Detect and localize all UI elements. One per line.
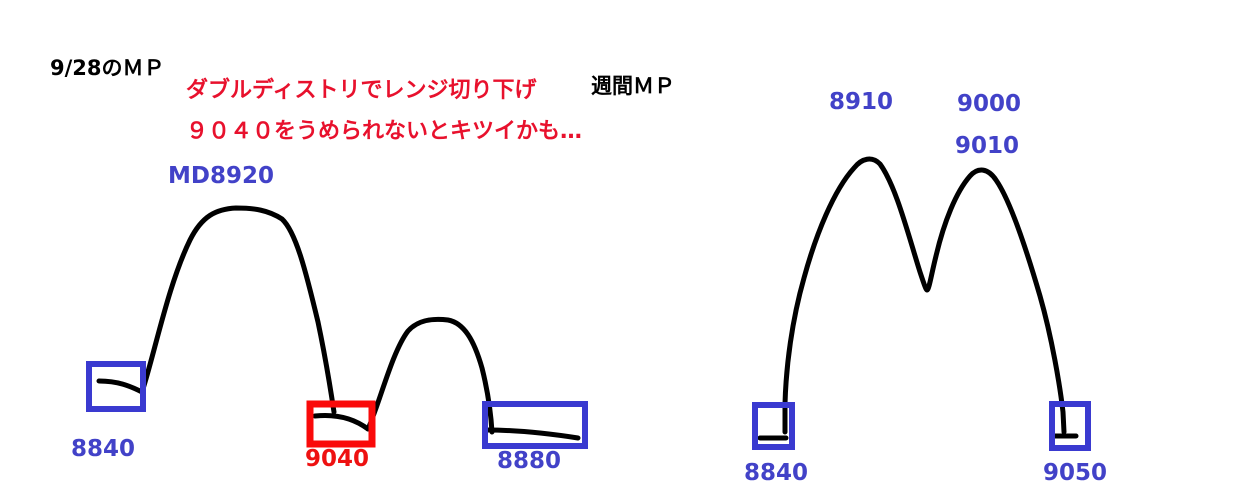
profile-drawing — [0, 0, 1245, 502]
left-close-box[interactable] — [485, 404, 585, 446]
diagram-canvas: 9/28のＭＰ ダブルディストリでレンジ切り下げ ９０４０をうめられないとキツイ… — [0, 0, 1245, 502]
left-distribution-2 — [368, 319, 492, 432]
left-low-tail — [99, 381, 142, 392]
left-close-tail — [487, 430, 578, 438]
left-poc-tail — [315, 415, 368, 429]
right-weekly-profile — [785, 159, 1064, 432]
right-high-box[interactable] — [1052, 404, 1088, 448]
left-distribution-1 — [142, 208, 334, 412]
